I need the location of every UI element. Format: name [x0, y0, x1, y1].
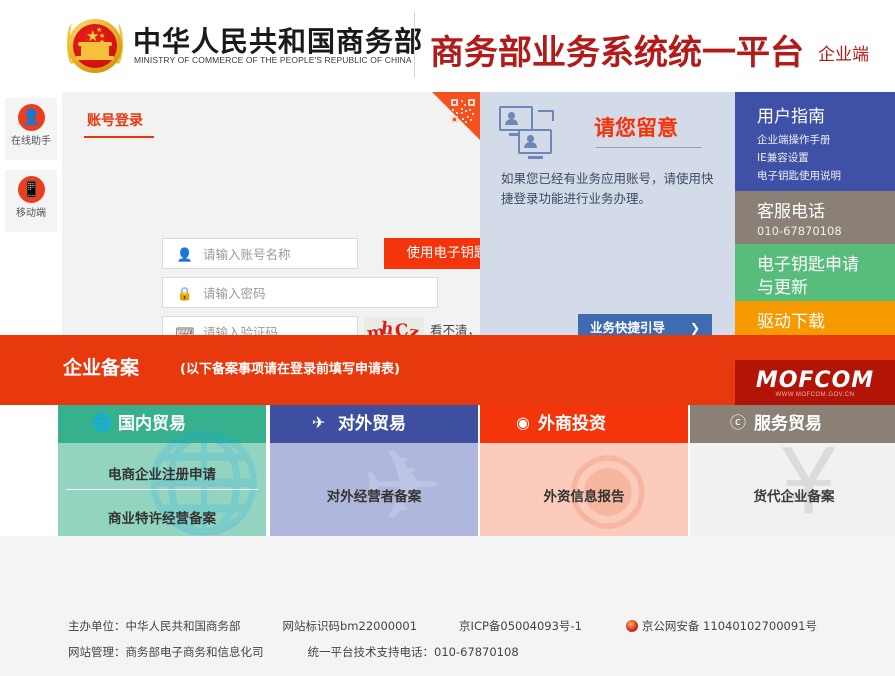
captcha-char-4: z: [407, 322, 420, 335]
use-ekey-button[interactable]: 使用电子钥匙: [384, 238, 480, 269]
card-separator: [66, 489, 258, 490]
captcha-placeholder: 请输入验证码: [203, 317, 278, 335]
yuan-watermark-icon: ¥: [782, 433, 835, 529]
card-title-domestic-trade: 国内贸易: [118, 405, 186, 443]
sidebar-service-phone-number: 010-67870108: [757, 223, 842, 239]
login-panel: 账号登录 👤 请输入账号名称 使用电子钥匙 🔒 请输入密码 ⌨ 请输入验证码 m…: [62, 92, 480, 335]
sidebar-block-ekey-apply[interactable]: 电子钥匙申请 与更新: [735, 244, 895, 301]
tab-account-login[interactable]: 账号登录: [87, 110, 143, 137]
card-header-foreign-investment: ◉ 外商投资: [480, 405, 688, 443]
footer-support-label: 统一平台技术支持电话：: [308, 644, 435, 660]
tab-underline: [84, 136, 154, 138]
footer-site-code: 网站标识码bm22000001: [283, 618, 418, 634]
password-field[interactable]: 🔒 请输入密码: [162, 277, 438, 308]
rail-item-online-assistant[interactable]: 👤 在线助手: [5, 98, 57, 160]
page-root: ★ ★ ★ ★ ★ 中华人民共和国商务部 MINISTRY OF COMMERC…: [0, 0, 895, 676]
card-body-foreign-trade: ✈ 对外经营者备案: [270, 443, 478, 536]
rail-label-mobile: 移动端: [5, 208, 57, 220]
card-link-fdi-report[interactable]: 外资信息报告: [480, 485, 688, 505]
sidebar-link-ie-compat[interactable]: IE兼容设置: [757, 150, 809, 166]
captcha-refresh-link[interactable]: 看不清，换一张: [430, 317, 480, 335]
filing-band: 企业备案 (以下备案事项请在登录前填写申请表) MOFCOM WWW.MOFCO…: [0, 335, 895, 405]
card-domestic-trade[interactable]: 🌐 国内贸易 🌐 电商企业注册申请 商业特许经营备案: [58, 405, 266, 536]
sidebar-link-ekey-manual[interactable]: 电子钥匙使用说明: [757, 168, 841, 184]
card-link-ecommerce-register[interactable]: 电商企业注册申请: [58, 463, 266, 483]
notice-panel: 请您留意 如果您已经有业务应用账号，请使用快捷登录功能进行业务办理。 业务快捷引…: [480, 92, 735, 335]
card-header-foreign-trade: ✈ 对外贸易: [270, 405, 478, 443]
sidebar-title-driver-download: 驱动下载: [757, 307, 825, 332]
card-title-service-trade: 服务贸易: [754, 405, 822, 443]
sidebar-block-service-phone[interactable]: 客服电话 010-67870108: [735, 191, 895, 244]
sidebar-link-manual[interactable]: 企业端操作手册: [757, 132, 831, 148]
captcha-char-2: h: [380, 318, 394, 335]
filing-cards: 🌐 国内贸易 🌐 电商企业注册申请 商业特许经营备案 ✈ 对外贸易 ✈ 对外经营…: [58, 405, 895, 536]
footer-police-record[interactable]: 京公网安备 11040102700091号: [642, 618, 817, 634]
ministry-name-zh: 中华人民共和国商务部: [133, 20, 423, 60]
sidebar-title-service-phone: 客服电话: [757, 197, 825, 222]
card-title-foreign-trade: 对外贸易: [338, 405, 406, 443]
mofcom-logo-band-text: MOFCOM: [735, 360, 895, 405]
mobile-icon: 📱: [18, 176, 45, 203]
captcha-image[interactable]: m h C z: [364, 317, 424, 335]
mofcom-logo-band-url: WWW.MOFCOM.GOV.CN: [735, 392, 895, 398]
password-placeholder: 请输入密码: [203, 278, 266, 309]
police-badge-icon: [626, 620, 638, 632]
footer-row-1: 主办单位：中华人民共和国商务部网站标识码bm22000001京ICP备05004…: [68, 618, 817, 634]
captcha-char-3: C: [394, 320, 409, 335]
qr-code-icon[interactable]: [450, 98, 476, 124]
page-header: ★ ★ ★ ★ ★ 中华人民共和国商务部 MINISTRY OF COMMERC…: [0, 0, 895, 92]
sidebar-title-user-guide: 用户指南: [757, 102, 825, 127]
sidebar-block-user-guide[interactable]: 用户指南 企业端操作手册 IE兼容设置 电子钥匙使用说明: [735, 92, 895, 191]
airplane-icon: ✈: [312, 405, 325, 443]
left-rail: 👤 在线助手 📱 移动端: [0, 92, 62, 335]
national-emblem-icon: ★ ★ ★ ★ ★: [68, 16, 126, 74]
footer-admin-label: 网站管理：: [68, 644, 126, 660]
filing-band-title: 企业备案: [63, 353, 139, 380]
page-footer: 主办单位：中华人民共和国商务部网站标识码bm22000001京ICP备05004…: [0, 536, 895, 676]
dual-monitor-icon: [496, 102, 566, 160]
footer-admin-value: 商务部电子商务和信息化司: [126, 644, 264, 660]
footer-support-value: 010-67870108: [434, 645, 519, 659]
card-link-foreign-operator-filing[interactable]: 对外经营者备案: [270, 485, 478, 505]
lock-icon: 🔒: [175, 278, 195, 309]
keyboard-icon: ⌨: [175, 317, 195, 335]
footer-host-label: 主办单位：: [68, 618, 126, 634]
platform-title: 商务部业务系统统一平台: [430, 25, 804, 74]
yuan-hand-icon: ⓒ: [730, 405, 746, 443]
card-foreign-investment[interactable]: ◉ 外商投资 ◉ 外资信息报告: [480, 405, 688, 536]
card-service-trade[interactable]: ⓒ 服务贸易 ¥ 货代企业备案: [690, 405, 895, 536]
coins-icon: ◉: [516, 405, 530, 443]
sidebar-title-ekey-apply: 电子钥匙申请: [757, 250, 859, 275]
footer-icp[interactable]: 京ICP备05004093号-1: [459, 618, 582, 634]
rail-item-mobile[interactable]: 📱 移动端: [5, 170, 57, 232]
user-icon: 👤: [175, 239, 195, 270]
notice-title: 请您留意: [594, 112, 678, 142]
card-title-foreign-investment: 外商投资: [538, 405, 606, 443]
card-body-domestic-trade: 🌐 电商企业注册申请 商业特许经营备案: [58, 443, 266, 536]
footer-host-value: 中华人民共和国商务部: [126, 618, 241, 634]
card-link-franchise-filing[interactable]: 商业特许经营备案: [58, 507, 266, 527]
captcha-input-field[interactable]: ⌨ 请输入验证码: [162, 316, 358, 335]
ministry-name-en: MINISTRY OF COMMERCE OF THE PEOPLE'S REP…: [134, 55, 412, 65]
card-foreign-trade[interactable]: ✈ 对外贸易 ✈ 对外经营者备案: [270, 405, 478, 536]
username-field[interactable]: 👤 请输入账号名称: [162, 238, 358, 269]
card-header-service-trade: ⓒ 服务贸易: [690, 405, 895, 443]
header-divider: [414, 12, 415, 78]
card-header-domestic-trade: 🌐 国内贸易: [58, 405, 266, 443]
card-body-foreign-investment: ◉ 外资信息报告: [480, 443, 688, 536]
platform-subtitle: 企业端: [818, 40, 869, 65]
footer-row-2: 网站管理：商务部电子商务和信息化司统一平台技术支持电话：010-67870108: [68, 644, 519, 660]
notice-rule: [596, 147, 702, 148]
filing-band-note: (以下备案事项请在登录前填写申请表): [180, 358, 400, 377]
username-placeholder: 请输入账号名称: [203, 239, 291, 270]
card-link-freight-forwarder-filing[interactable]: 货代企业备案: [690, 485, 895, 505]
globe-icon: 🌐: [92, 405, 112, 443]
rail-label-online-assistant: 在线助手: [5, 136, 57, 148]
sidebar-title-ekey-renew: 与更新: [757, 273, 808, 298]
notice-paragraph-1: 如果您已经有业务应用账号，请使用快捷登录功能进行业务办理。: [501, 169, 714, 209]
mofcom-logo-band: MOFCOM WWW.MOFCOM.GOV.CN: [735, 360, 895, 405]
card-body-service-trade: ¥ 货代企业备案: [690, 443, 895, 536]
person-icon: 👤: [18, 104, 45, 131]
